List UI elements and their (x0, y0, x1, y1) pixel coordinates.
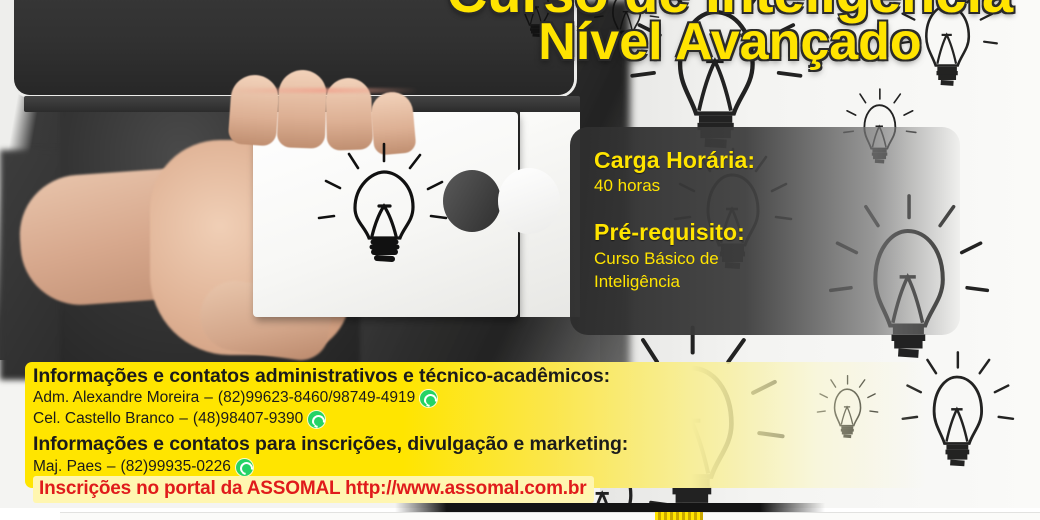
contact-name: Maj. Paes (33, 457, 102, 478)
prerequisite-value-line1: Curso Básico de (594, 248, 950, 270)
contact-row: Adm. Alexandre Moreira – (82)99623-8460/… (33, 388, 913, 409)
contact-phone: (82)99623-8460/98749-4919 (218, 388, 415, 409)
whatsapp-icon[interactable] (308, 411, 325, 428)
contact-row: Maj. Paes – (82)99935-0226 (33, 457, 913, 478)
contact-phone: (48)98407-9390 (193, 409, 303, 430)
admin-contacts-heading: Informações e contatos administrativos e… (33, 365, 913, 388)
contact-dash: – (179, 409, 188, 430)
enrollment-strip[interactable]: Inscrições no portal da ASSOMAL http://w… (33, 476, 594, 503)
contact-row: Cel. Castello Branco – (48)98407-9390 (33, 409, 913, 430)
course-info-panel: Carga Horária: 40 horas Pré-requisito: C… (570, 127, 960, 335)
bottom-dark-bar (395, 503, 825, 512)
contact-name: Cel. Castello Branco (33, 409, 174, 430)
bottom-yellow-fragment (655, 512, 703, 520)
course-poster: Curso de Inteligência Nível Avançado Car… (0, 0, 1040, 520)
contact-content: Informações e contatos administrativos e… (33, 365, 913, 478)
workload-label: Carga Horária: (594, 147, 950, 173)
contact-dash: – (107, 457, 116, 478)
prerequisite-label: Pré-requisito: (594, 219, 950, 245)
bottom-next-card-edge (60, 512, 1040, 520)
contact-name: Adm. Alexandre Moreira (33, 388, 199, 409)
poster-title-line2: Nível Avançado (430, 12, 1030, 72)
contact-phone: (82)99935-0226 (121, 457, 231, 478)
marketing-contacts-heading: Informações e contatos para inscrições, … (33, 433, 913, 456)
contact-dash: – (204, 388, 213, 409)
enrollment-text[interactable]: Inscrições no portal da ASSOMAL http://w… (39, 478, 586, 499)
prerequisite-value-line2: Inteligência (594, 271, 950, 293)
whatsapp-icon[interactable] (236, 459, 253, 476)
workload-value: 40 horas (594, 175, 950, 197)
whatsapp-icon[interactable] (420, 390, 437, 407)
